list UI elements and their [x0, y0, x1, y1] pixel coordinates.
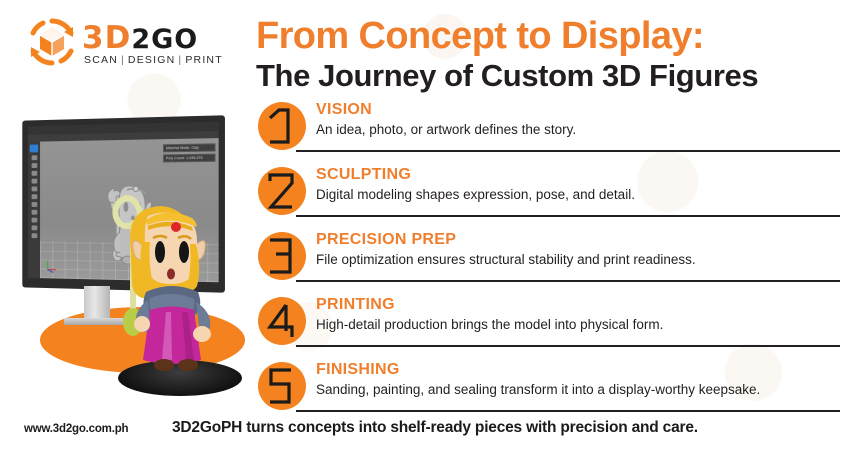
- step-content-4: PRINTING High-detail production brings t…: [316, 295, 840, 334]
- viewport-axis-gizmo: [44, 258, 59, 274]
- step-number-badge-2: [258, 167, 306, 215]
- step-description-2: Digital modeling shapes expression, pose…: [316, 185, 840, 204]
- logo-wordmark: 3D2GO: [82, 20, 198, 56]
- step-title-1: VISION: [316, 100, 840, 119]
- service-print: PRINT: [185, 54, 223, 66]
- step-divider-3: [296, 280, 840, 282]
- step-title-5: FINISHING: [316, 360, 840, 379]
- logo-3d-text: 3D: [82, 20, 131, 56]
- step-content-2: SCULPTING Digital modeling shapes expres…: [316, 165, 840, 204]
- step-title-2: SCULPTING: [316, 165, 840, 184]
- product-photo: Material Mode: Clay Poly Count: 1,045,07…: [0, 104, 250, 410]
- step-number-badge-5: [258, 362, 306, 410]
- step-divider-1: [296, 150, 840, 152]
- headline-primary: From Concept to Display:: [256, 16, 704, 56]
- hud-material-mode: Material Mode: Clay: [163, 143, 216, 152]
- footer-website-url[interactable]: www.3d2go.com.ph: [24, 423, 128, 435]
- service-scan: SCAN: [84, 54, 118, 66]
- step-title-3: PRECISION PREP: [316, 230, 840, 249]
- step-divider-5: [296, 410, 840, 412]
- step-content-3: PRECISION PREP File optimization ensures…: [316, 230, 840, 269]
- step-description-3: File optimization ensures structural sta…: [316, 250, 840, 269]
- logo-2go-text: 2GO: [131, 24, 198, 55]
- service-design: DESIGN: [128, 54, 175, 66]
- step-content-5: FINISHING Sanding, painting, and sealing…: [316, 360, 840, 399]
- app-tool-palette: [28, 142, 40, 279]
- step-divider-2: [296, 215, 840, 217]
- step-content-1: VISION An idea, photo, or artwork define…: [316, 100, 840, 139]
- separator-2: |: [175, 54, 185, 66]
- step-item-1[interactable]: VISION An idea, photo, or artwork define…: [258, 100, 840, 165]
- step-divider-4: [296, 345, 840, 347]
- step-item-2[interactable]: SCULPTING Digital modeling shapes expres…: [258, 165, 840, 230]
- step-number-badge-1: [258, 102, 306, 150]
- step-number-badge-4: [258, 297, 306, 345]
- footer-tagline: 3D2GoPH turns concepts into shelf-ready …: [172, 419, 698, 437]
- infographic-page: 3D2GO SCAN|DESIGN|PRINT From Concept to …: [0, 0, 856, 454]
- logo-services-tagline: SCAN|DESIGN|PRINT: [84, 54, 223, 66]
- painted-figurine: [96, 182, 224, 400]
- separator-1: |: [118, 54, 128, 66]
- step-description-1: An idea, photo, or artwork defines the s…: [316, 120, 840, 139]
- viewport-hud-overlay: Material Mode: Clay Poly Count: 1,045,07…: [163, 143, 216, 164]
- headline-secondary: The Journey of Custom 3D Figures: [256, 59, 758, 93]
- step-item-4[interactable]: PRINTING High-detail production brings t…: [258, 295, 840, 360]
- brand-logo[interactable]: 3D2GO SCAN|DESIGN|PRINT: [26, 14, 226, 72]
- steps-list: VISION An idea, photo, or artwork define…: [258, 100, 840, 425]
- step-title-4: PRINTING: [316, 295, 840, 314]
- cube-refresh-icon: [26, 16, 78, 68]
- step-item-3[interactable]: PRECISION PREP File optimization ensures…: [258, 230, 840, 295]
- step-description-4: High-detail production brings the model …: [316, 315, 840, 334]
- hud-poly-count: Poly Count: 1,045,076: [163, 154, 216, 163]
- step-description-5: Sanding, painting, and sealing transform…: [316, 380, 840, 399]
- step-item-5[interactable]: FINISHING Sanding, painting, and sealing…: [258, 360, 840, 425]
- step-number-badge-3: [258, 232, 306, 280]
